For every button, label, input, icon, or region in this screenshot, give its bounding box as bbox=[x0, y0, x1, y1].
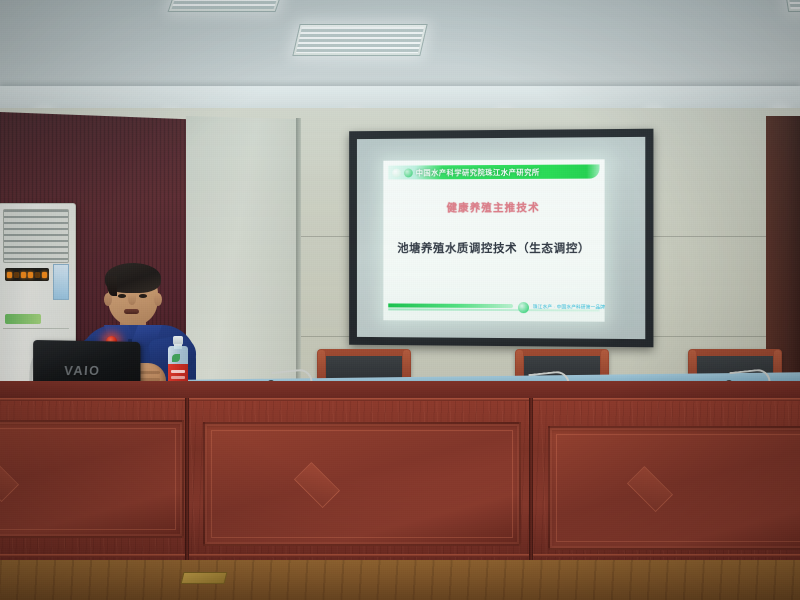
laptop-brand-label: VAIO bbox=[64, 363, 101, 378]
panel-diamond-motif bbox=[294, 462, 340, 508]
ac-led-display bbox=[5, 268, 49, 281]
slide-header-band: 中国水产科学研究院珠江水产研究所 bbox=[388, 164, 599, 179]
presentation-slide: 中国水产科学研究院珠江水产研究所 健康养殖主推技术 池塘养殖水质调控技术（生态调… bbox=[383, 159, 604, 321]
ceiling-light-panel-icon bbox=[168, 0, 285, 12]
slide-footer-tagline: 珠江水产 · 中国水产科研第一品牌 bbox=[533, 304, 605, 310]
ac-led-segment-icon bbox=[42, 272, 47, 278]
ac-led-segment-icon bbox=[21, 272, 26, 278]
ceiling bbox=[0, 0, 800, 112]
fish-emblem-icon bbox=[404, 168, 413, 177]
presenter-eye bbox=[139, 294, 147, 298]
desk-rail bbox=[0, 554, 800, 557]
institute-logo-icon bbox=[392, 168, 401, 177]
presenter-eye bbox=[118, 294, 126, 298]
panel-diamond-motif bbox=[627, 466, 673, 512]
desk-section-seam bbox=[529, 398, 533, 570]
presenter-mouth bbox=[124, 309, 139, 314]
ac-led-segment-icon bbox=[7, 272, 12, 278]
slide-title-primary: 健康养殖主推技术 bbox=[383, 200, 604, 216]
ac-led-segment-icon bbox=[35, 272, 40, 278]
desk-panel bbox=[0, 420, 184, 538]
desk-panel bbox=[548, 426, 800, 550]
desk-panel bbox=[203, 422, 521, 546]
presenter-nose bbox=[128, 294, 136, 305]
wood-floor bbox=[0, 560, 800, 600]
ac-vent-grille bbox=[3, 209, 69, 263]
footer-logo-icon bbox=[518, 302, 529, 313]
presenter-ear bbox=[154, 293, 162, 306]
desk-front-paneling bbox=[0, 398, 800, 570]
desk-section-seam bbox=[185, 398, 189, 570]
ac-led-segment-icon bbox=[28, 272, 33, 278]
wall-edge-trim bbox=[296, 118, 301, 386]
projection-screen-surface: 中国水产科学研究院珠江水产研究所 健康养殖主推技术 池塘养殖水质调控技术（生态调… bbox=[357, 137, 645, 339]
slide-org-name: 中国水产科学研究院珠江水产研究所 bbox=[416, 166, 540, 178]
slide-footer: 珠江水产 · 中国水产科研第一品牌 bbox=[388, 301, 599, 314]
wall-section-light bbox=[186, 116, 298, 389]
panel-diamond-motif bbox=[0, 456, 19, 502]
desk-rail bbox=[0, 398, 800, 401]
bottle-leaf-icon bbox=[172, 354, 180, 362]
ac-seam bbox=[3, 328, 69, 329]
ac-brand-mark bbox=[5, 314, 41, 324]
presenter-hair bbox=[105, 263, 161, 293]
ac-energy-label bbox=[53, 264, 69, 300]
ceiling-light-panel-icon bbox=[784, 0, 800, 12]
ceiling-light-panel-icon bbox=[292, 24, 427, 56]
ac-led-segment-icon bbox=[14, 272, 19, 278]
floor-outlet-plate[interactable] bbox=[181, 572, 228, 584]
projection-screen: 中国水产科学研究院珠江水产研究所 健康养殖主推技术 池塘养殖水质调控技术（生态调… bbox=[349, 129, 653, 348]
slide-title-secondary: 池塘养殖水质调控技术（生态调控） bbox=[383, 240, 604, 256]
conference-room-photo: 中国水产科学研究院珠江水产研究所 健康养殖主推技术 池塘养殖水质调控技术（生态调… bbox=[0, 0, 800, 600]
